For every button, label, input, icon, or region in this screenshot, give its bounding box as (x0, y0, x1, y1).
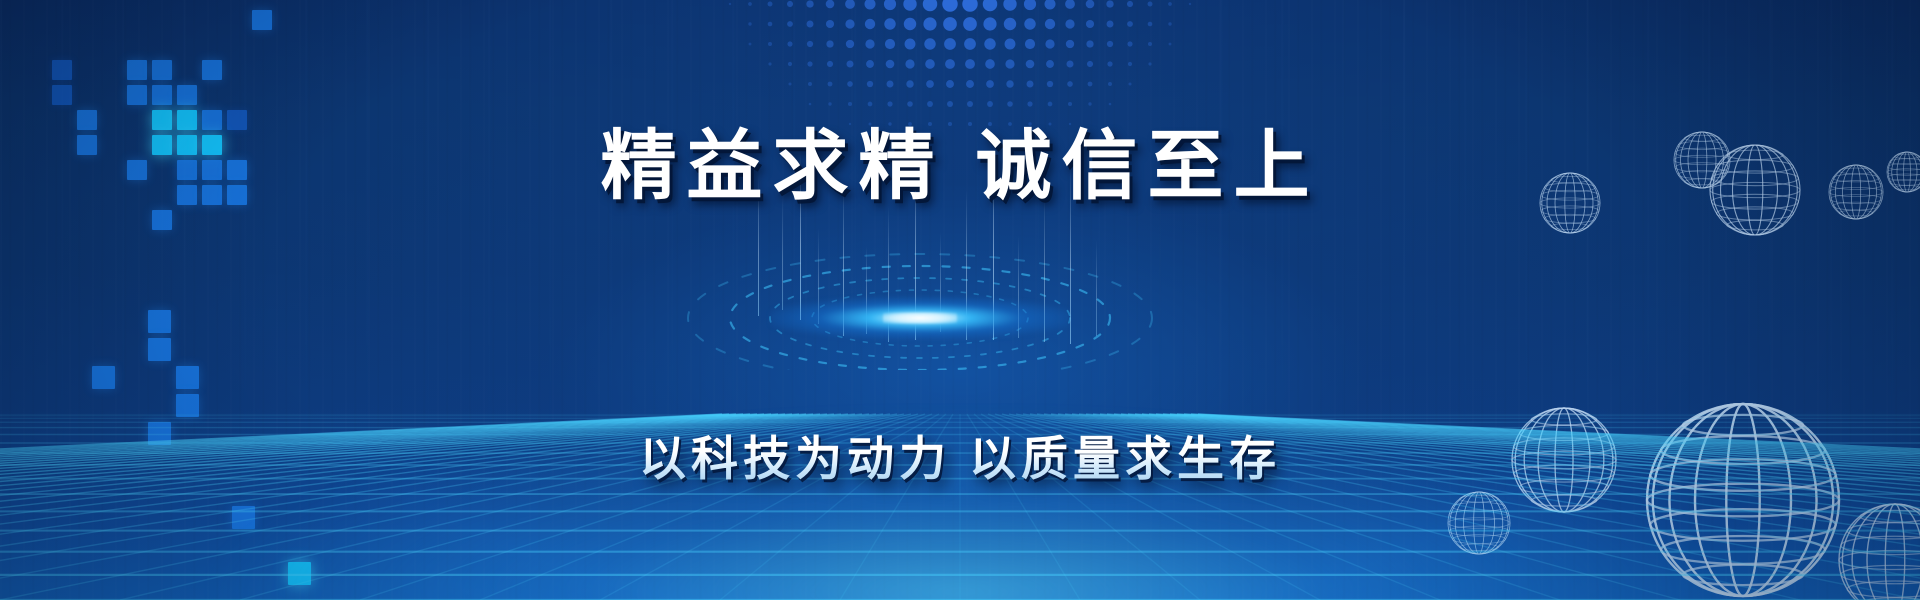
hologram-core-hotspot (883, 313, 957, 324)
light-beam (940, 232, 941, 332)
light-beam (1096, 240, 1097, 336)
mosaic-pixel (288, 562, 311, 585)
globe-br-4 (1839, 504, 1920, 600)
mosaic-pixel (52, 60, 72, 80)
mosaic-pixel (176, 394, 199, 417)
mosaic-pixel (177, 85, 197, 105)
mosaic-pixel (176, 366, 199, 389)
mosaic-pixel (127, 85, 147, 105)
light-beam (818, 228, 819, 324)
mosaic-pixel (252, 10, 272, 30)
mosaic-pixel (148, 338, 171, 361)
mosaic-pixel (152, 85, 172, 105)
light-beam (782, 198, 783, 310)
page-slogan: 以科技为动力 以质量求生存 (0, 420, 1920, 489)
mosaic-pixel (152, 60, 172, 80)
page-title: 精益求精 诚信至上 (0, 104, 1920, 214)
light-beam (1044, 196, 1045, 342)
light-beam (888, 206, 889, 342)
hologram-core-glow (770, 297, 1070, 339)
mosaic-pixel (127, 60, 147, 80)
mosaic-pixel (148, 310, 171, 333)
globe-br-1 (1448, 492, 1510, 554)
vertical-lightline-texture (0, 0, 1920, 600)
light-beam (866, 246, 867, 334)
mosaic-pixel (52, 85, 72, 105)
mosaic-pixel (232, 506, 255, 529)
mosaic-pixel (202, 60, 222, 80)
tech-banner: 精益求精 诚信至上 以科技为动力 以质量求生存 (0, 0, 1920, 600)
vertical-streak-texture (0, 0, 1920, 600)
wireframe-globe-cluster (0, 0, 1920, 600)
light-beam (1018, 236, 1019, 338)
mosaic-pixel (92, 366, 115, 389)
edge-vignette (0, 0, 1920, 600)
